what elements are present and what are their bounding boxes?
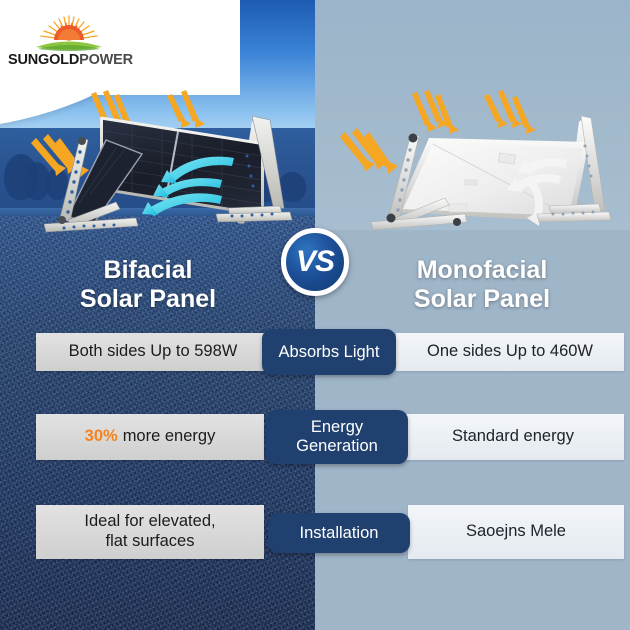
left-title-line-1: Bifacial: [8, 256, 288, 285]
brand-name-bold: SUNGOLD: [8, 52, 79, 68]
row2-left-value: 30% more energy: [36, 414, 264, 460]
row2-label-line-2: Generation: [296, 437, 378, 455]
brand-wordmark: SUNGOLDPOWER: [8, 52, 128, 68]
right-title-line-1: Monofacial: [342, 256, 622, 285]
sun-ray-arrow-icon: [412, 90, 536, 134]
infographic-poster: SUNGOLDPOWER: [0, 0, 630, 630]
brand-name-light: POWER: [79, 52, 133, 68]
row1-label-badge: Absorbs Light: [262, 329, 396, 375]
comparison-row-absorbs-light: Both sides Up to 598W Absorbs Light One …: [0, 333, 630, 371]
sunrise-logo-icon: [34, 14, 104, 54]
row3-label-badge: Installation: [268, 513, 410, 553]
row3-left-line-1: Ideal for elevated,: [84, 512, 215, 530]
row1-left-value: Both sides Up to 598W: [36, 333, 270, 371]
row2-right-value: Standard energy: [402, 414, 624, 460]
monofacial-solar-panel-illustration: [337, 86, 625, 252]
versus-badge-label: VS: [296, 247, 334, 277]
left-product-title: Bifacial Solar Panel: [8, 256, 288, 314]
row3-left-value-text: Ideal for elevated, flat surfaces: [84, 512, 215, 552]
bifacial-solar-panel-illustration: [22, 86, 310, 252]
row3-left-value: Ideal for elevated, flat surfaces: [36, 505, 264, 559]
row2-label-text: Energy Generation: [296, 418, 378, 456]
right-title-line-2: Solar Panel: [342, 285, 622, 314]
row2-label-line-1: Energy: [311, 418, 363, 436]
comparison-row-energy-generation: 30% more energy Energy Generation Standa…: [0, 410, 630, 464]
comparison-row-installation: Ideal for elevated, flat surfaces Instal…: [0, 505, 630, 559]
versus-badge: VS: [281, 228, 349, 296]
row3-left-line-2: flat surfaces: [106, 532, 195, 550]
row2-label-badge: Energy Generation: [266, 410, 408, 464]
row2-left-rest: more energy: [123, 427, 216, 447]
row1-label-text: Absorbs Light: [279, 343, 380, 362]
row2-left-highlight: 30%: [85, 427, 118, 447]
row3-right-value: Saoejns Mele: [408, 505, 624, 559]
left-title-line-2: Solar Panel: [8, 285, 288, 314]
row3-label-text: Installation: [300, 524, 379, 543]
row1-right-value: One sides Up to 460W: [396, 333, 624, 371]
sun-ray-arrow-icon: [340, 128, 398, 174]
right-product-title: Monofacial Solar Panel: [342, 256, 622, 314]
brand-logo: SUNGOLDPOWER: [8, 14, 128, 72]
